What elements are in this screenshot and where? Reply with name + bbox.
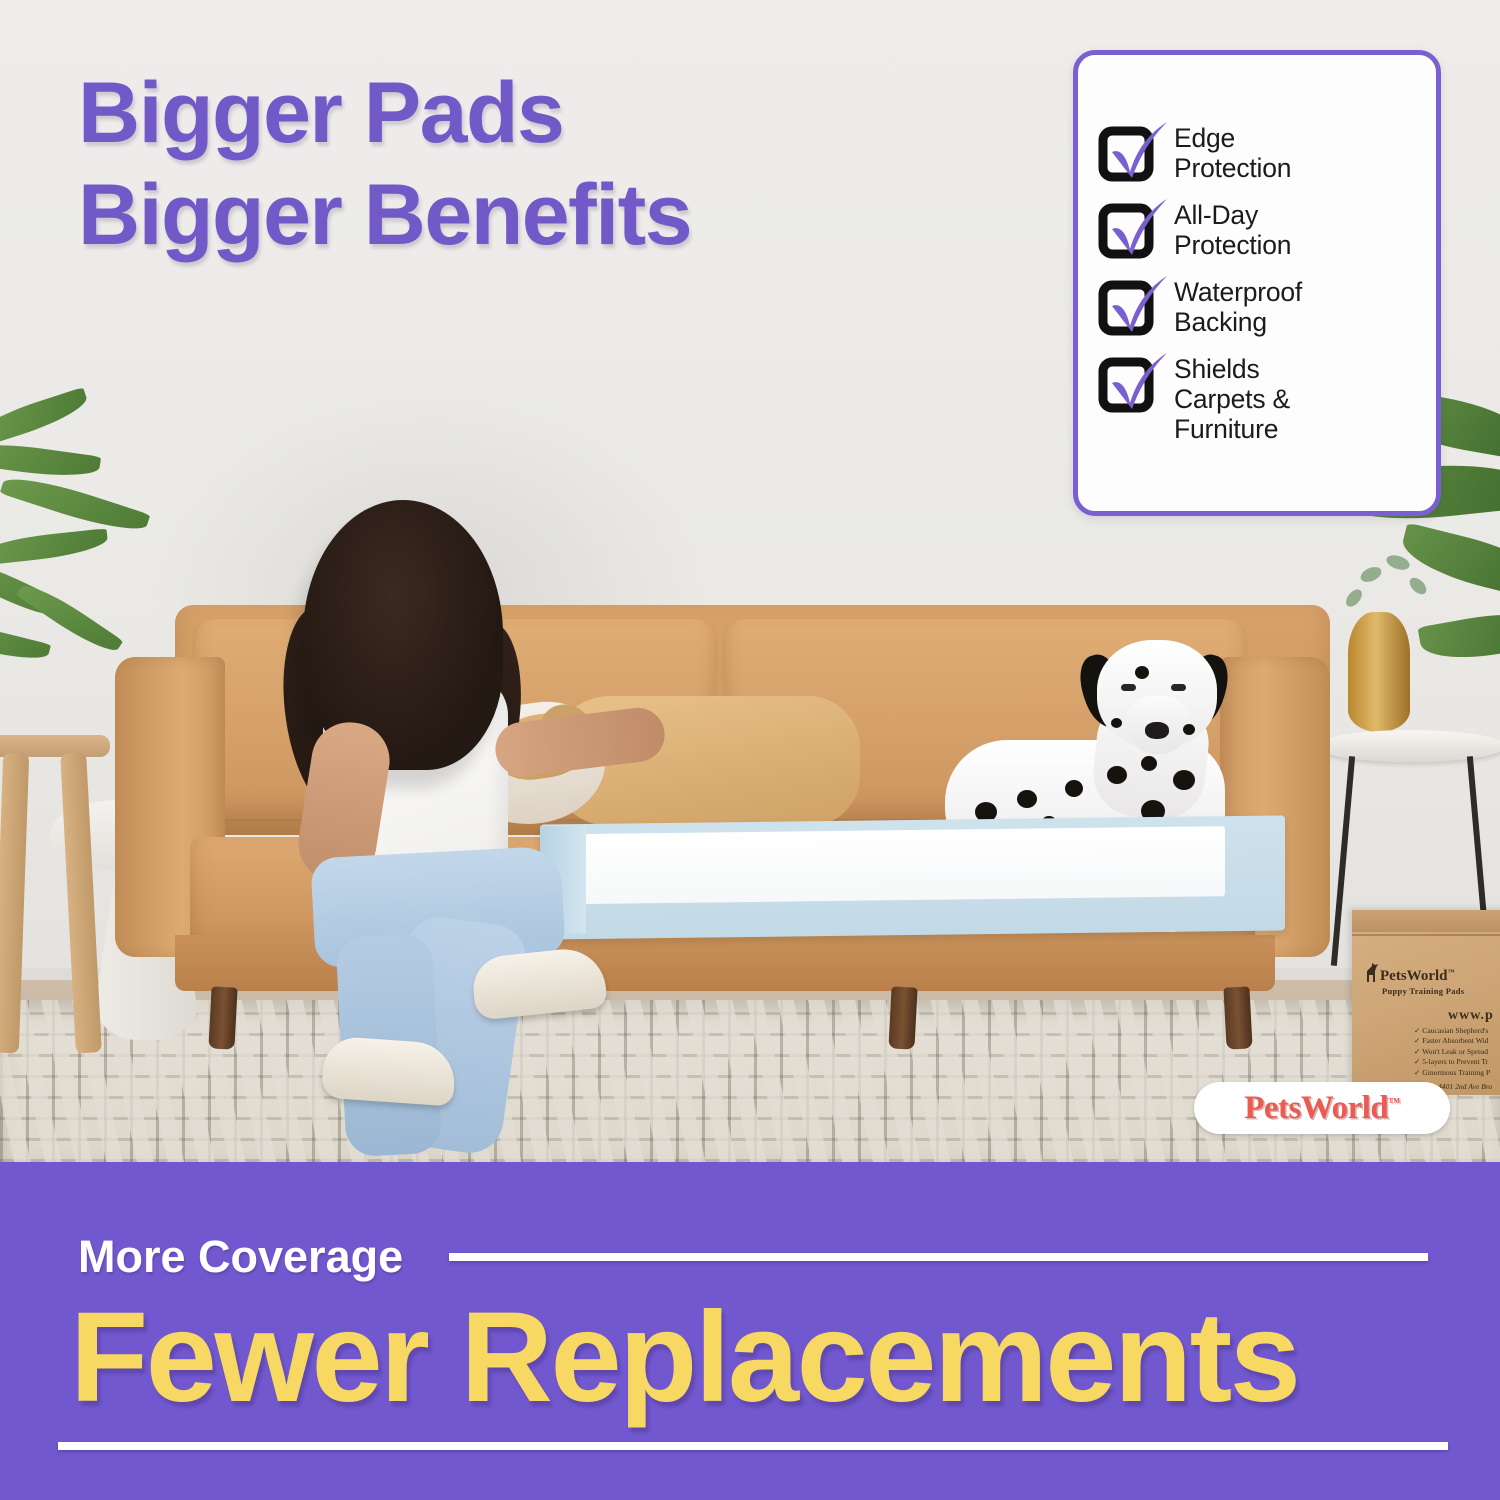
dog-silhouette-icon bbox=[1364, 962, 1380, 982]
checklist-item: Edge Protection bbox=[1100, 122, 1422, 183]
checked-checkbox-icon bbox=[1100, 126, 1152, 176]
carton-bullets: ✓ Caucasian Shepherd's ✓ Faster Absorben… bbox=[1414, 1026, 1490, 1078]
carton-brand: PetsWorld™ bbox=[1380, 968, 1455, 985]
headline: Bigger Pads Bigger Benefits bbox=[78, 62, 978, 266]
checked-checkbox-icon bbox=[1100, 280, 1152, 330]
petsworld-logo: PetsWorld™ bbox=[1194, 1082, 1450, 1134]
carton-bullet: ✓ Won't Leak or Spread bbox=[1414, 1047, 1490, 1057]
checked-checkbox-icon bbox=[1100, 357, 1152, 407]
checklist-item-label: Shields Carpets & Furniture bbox=[1174, 353, 1290, 444]
logo-wordmark: PetsWorld™ bbox=[1244, 1090, 1399, 1127]
benefits-checklist-panel: Edge Protection All-Day Protection bbox=[1073, 50, 1441, 516]
checklist-item-label: All-Day Protection bbox=[1174, 199, 1291, 260]
carton-bullet: ✓ Faster Absorbent Wid bbox=[1414, 1036, 1490, 1046]
product-marketing-image: PetsWorld™ Puppy Training Pads www.p ✓ C… bbox=[0, 0, 1500, 1500]
banner-headline: Fewer Replacements bbox=[70, 1288, 1450, 1428]
headline-line-1: Bigger Pads bbox=[78, 62, 978, 164]
checklist-item: Shields Carpets & Furniture bbox=[1100, 353, 1422, 444]
checklist-item-label: Waterproof Backing bbox=[1174, 276, 1302, 337]
woman-on-sofa bbox=[245, 500, 675, 1120]
banner-eyebrow-row: More Coverage bbox=[78, 1228, 1428, 1286]
banner-eyebrow: More Coverage bbox=[78, 1231, 403, 1283]
wooden-stool bbox=[0, 735, 114, 1065]
banner-rule-top bbox=[449, 1253, 1428, 1261]
carton-bullet: ✓ Ginormous Training P bbox=[1414, 1068, 1490, 1078]
checklist-item-label: Edge Protection bbox=[1174, 122, 1291, 183]
carton-bullet: ✓ 5-layers to Prevent Tr bbox=[1414, 1057, 1490, 1067]
checklist-item: All-Day Protection bbox=[1100, 199, 1422, 260]
checklist-item: Waterproof Backing bbox=[1100, 276, 1422, 337]
checked-checkbox-icon bbox=[1100, 203, 1152, 253]
headline-line-2: Bigger Benefits bbox=[78, 164, 978, 266]
carton-bullet: ✓ Caucasian Shepherd's bbox=[1414, 1026, 1490, 1036]
carton-subtitle: Puppy Training Pads bbox=[1382, 986, 1464, 996]
product-carton: PetsWorld™ Puppy Training Pads www.p ✓ C… bbox=[1352, 910, 1500, 1095]
carton-website: www.p bbox=[1448, 1008, 1494, 1024]
banner-rule-bottom bbox=[58, 1442, 1448, 1450]
carton-address: 4401 2nd Ave Bro bbox=[1438, 1082, 1492, 1091]
